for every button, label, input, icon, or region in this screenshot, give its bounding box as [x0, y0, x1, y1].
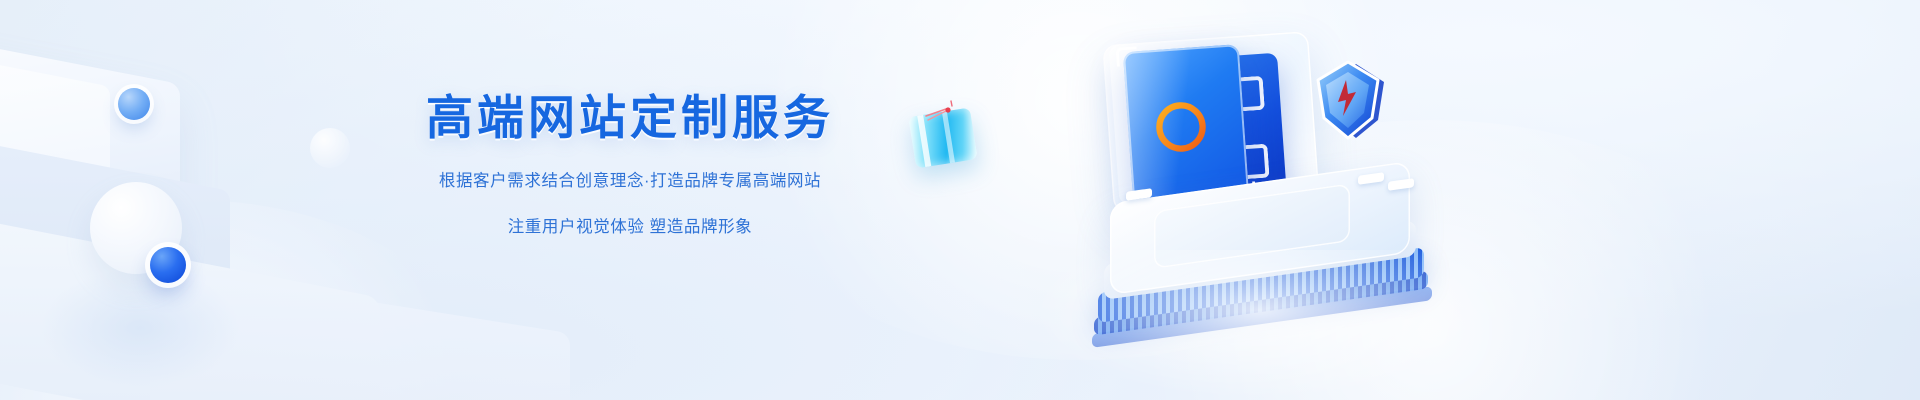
light-blue-sphere — [118, 88, 150, 120]
page-title: 高端网站定制服务 — [380, 92, 880, 145]
iso-haze — [40, 268, 240, 388]
hero-subtitle-primary: 根据客户需求结合创意理念·打造品牌专属高端网站 — [380, 167, 880, 191]
hero-subtitle-secondary: 注重用户视觉体验 塑造品牌形象 — [380, 213, 880, 237]
ghost-sphere — [310, 128, 350, 168]
hero-illustration — [880, 0, 1920, 400]
hero-copy: 高端网站定制服务 根据客户需求结合创意理念·打造品牌专属高端网站 注重用户视觉体… — [380, 92, 880, 237]
brand-t-logo-icon — [1152, 98, 1210, 156]
sparkle-icon — [924, 100, 958, 122]
shield-icon — [1312, 58, 1390, 146]
deep-blue-sphere — [150, 247, 186, 283]
hero-banner: 高端网站定制服务 根据客户需求结合创意理念·打造品牌专属高端网站 注重用户视觉体… — [0, 0, 1920, 400]
layered-platform-icon — [1070, 170, 1470, 330]
